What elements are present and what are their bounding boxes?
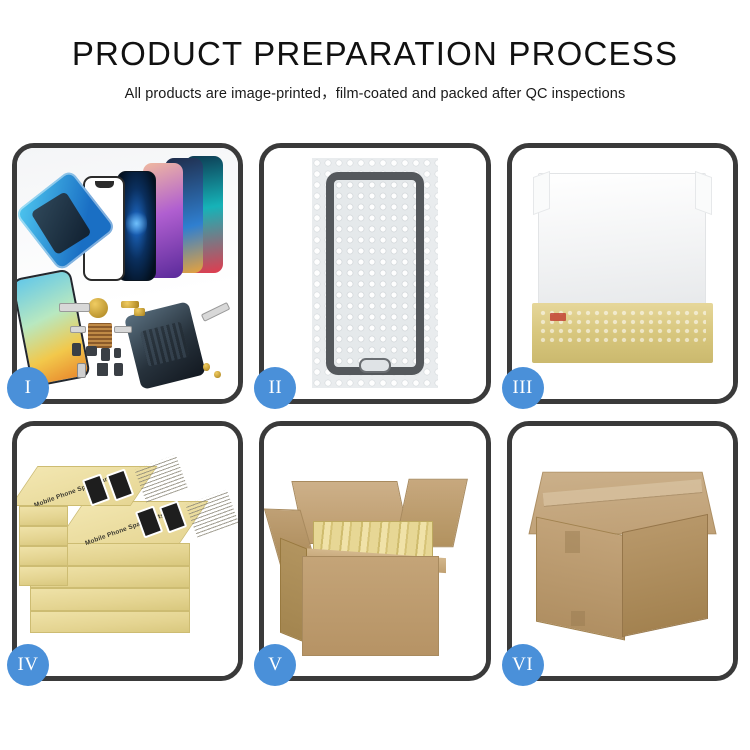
step-badge-1: I [7, 367, 49, 409]
part-gold-clip [134, 308, 145, 316]
step-3-image [512, 148, 733, 399]
part-flex-cable-2 [70, 326, 85, 334]
page-subtitle: All products are image-printed，film-coat… [0, 82, 750, 103]
carton-hand-hole-top [565, 531, 580, 554]
process-step-panel-1: I [12, 143, 243, 404]
page-title: PRODUCT PREPARATION PROCESS [0, 35, 750, 73]
red-label-mark [550, 313, 566, 321]
part-taptic-engine [97, 363, 108, 376]
retail-box-stack-bottom-2 [30, 588, 189, 611]
part-screw-1 [203, 363, 210, 371]
part-sensor [114, 348, 121, 358]
bubble-wrap-sheet [312, 158, 438, 388]
step-5-backdrop [264, 426, 485, 677]
step-2-backdrop [264, 148, 485, 399]
step-badge-4: IV [7, 644, 49, 686]
step-badge-5: V [254, 644, 296, 686]
part-chip-array [88, 323, 112, 348]
step-4-backdrop: Mobile Phone Spare Parts Mobile Phone Sp… [17, 426, 238, 677]
process-step-panel-2: II [259, 143, 490, 404]
retail-box-back-spec-lines [134, 454, 188, 502]
step-6-image [512, 426, 733, 677]
retail-box-left-2 [19, 526, 68, 546]
retail-box-left-3 [19, 546, 68, 566]
process-step-panel-6: VI [507, 421, 738, 682]
process-step-panel-4: Mobile Phone Spare Parts Mobile Phone Sp… [12, 421, 243, 682]
retail-box-stack-bottom-1 [30, 611, 189, 634]
part-camera-module [86, 346, 97, 356]
part-button-1 [72, 343, 81, 356]
step-4-image: Mobile Phone Spare Parts Mobile Phone Sp… [17, 426, 238, 677]
phone-front-glass [326, 172, 424, 375]
step-6-backdrop [512, 426, 733, 677]
part-flex-cable-1 [59, 303, 90, 312]
step-1-image [17, 148, 238, 399]
retail-box-front-spec-lines [185, 489, 238, 537]
part-speaker-coil [88, 298, 108, 318]
sealed-carton-right [622, 514, 708, 638]
retail-box-left-1 [19, 506, 68, 526]
part-gold-bracket [121, 301, 139, 309]
step-3-backdrop [512, 148, 733, 399]
part-flex-cable-3 [114, 326, 132, 334]
mailer-box-tray [532, 303, 713, 363]
header: PRODUCT PREPARATION PROCESS All products… [0, 0, 750, 103]
process-step-panel-3: III [507, 143, 738, 404]
product-preparation-infographic: PRODUCT PREPARATION PROCESS All products… [0, 0, 750, 750]
process-steps-grid: I II [12, 143, 738, 681]
step-5-image [264, 426, 485, 677]
step-2-image [264, 148, 485, 399]
step-badge-2: II [254, 367, 296, 409]
retail-box-left-4 [19, 566, 68, 586]
part-connector [114, 363, 123, 376]
part-vibrator [101, 348, 110, 361]
step-badge-6: VI [502, 644, 544, 686]
mailer-box-lid [538, 173, 706, 313]
process-step-panel-5: V [259, 421, 490, 682]
carton-hand-hole-bottom [571, 611, 584, 626]
part-sim-tray [77, 363, 86, 378]
carton-front-panel [302, 556, 439, 656]
part-screw-2 [214, 371, 221, 379]
step-badge-3: III [502, 367, 544, 409]
